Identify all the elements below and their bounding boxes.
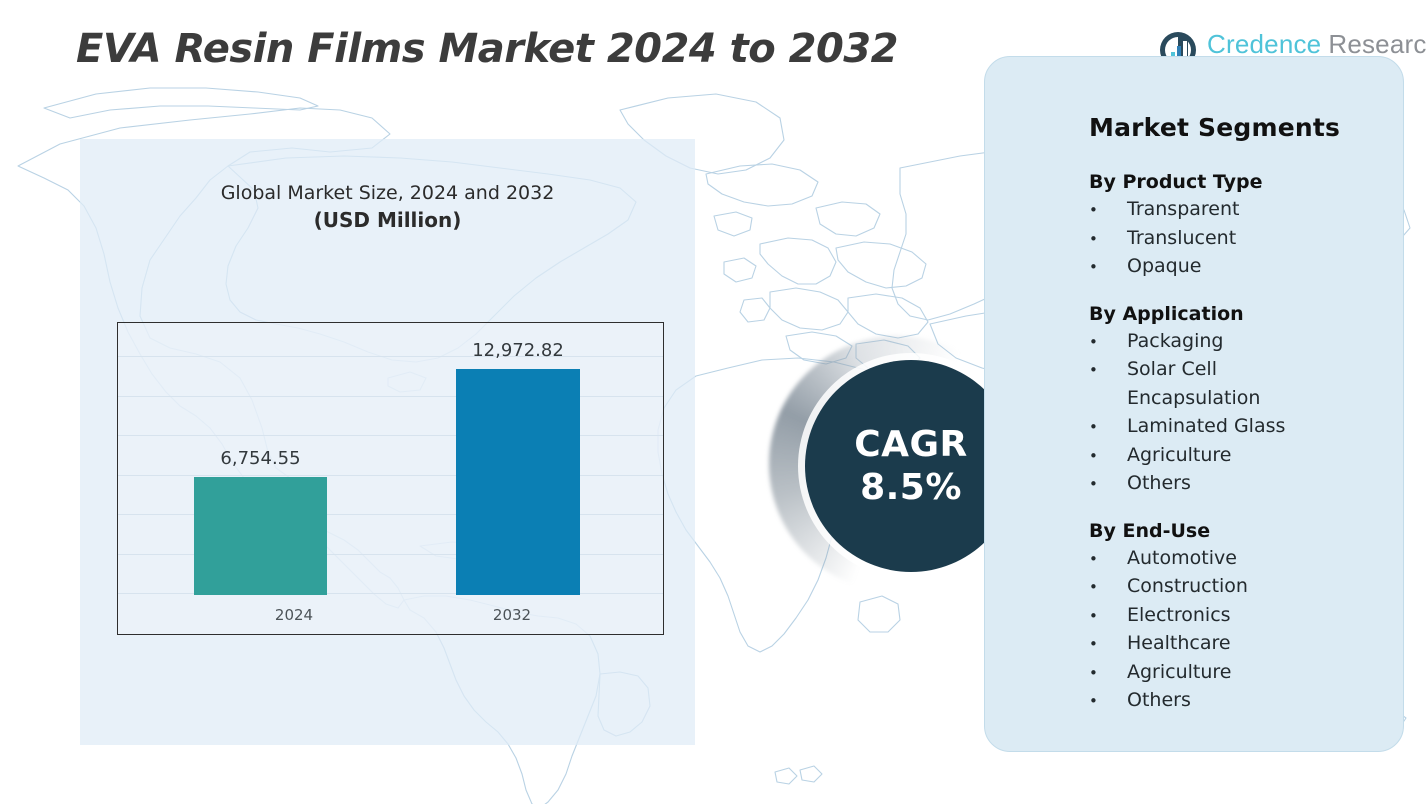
infographic-canvas: EVA Resin Films Market 2024 to 2032 Cred… xyxy=(0,0,1428,804)
segment-item-label: Laminated Glass xyxy=(1127,412,1403,441)
segment-list-item[interactable]: •Agriculture xyxy=(1089,658,1403,687)
segment-item-label: Others xyxy=(1127,686,1403,715)
bullet-icon: • xyxy=(1089,199,1127,222)
segment-group-title: By Application xyxy=(1089,303,1403,325)
segment-list-item[interactable]: •Construction xyxy=(1089,572,1403,601)
bar-2032 xyxy=(456,369,580,595)
bar-2024 xyxy=(194,477,327,595)
segment-item-label: Agriculture xyxy=(1127,658,1403,687)
bullet-icon: • xyxy=(1089,228,1127,251)
bullet-icon: • xyxy=(1089,359,1127,382)
page-title: EVA Resin Films Market 2024 to 2032 xyxy=(76,26,898,72)
bar-group-2032: 12,972.82 xyxy=(456,323,580,595)
segment-list-item[interactable]: •Translucent xyxy=(1089,224,1403,253)
segment-item-label: Transparent xyxy=(1127,195,1403,224)
segment-group-1: By Application•Packaging•Solar Cell Enca… xyxy=(1089,303,1403,498)
bullet-icon: • xyxy=(1089,473,1127,496)
segment-group-title: By End-Use xyxy=(1089,520,1403,542)
segment-item-label: Others xyxy=(1127,469,1403,498)
bar-group-2024: 6,754.55 xyxy=(194,323,327,595)
segment-list-item[interactable]: •Solar Cell Encapsulation xyxy=(1089,355,1403,412)
segment-group-title: By Product Type xyxy=(1089,171,1403,193)
brand-name-secondary: Research xyxy=(1328,31,1428,57)
segment-group-2: By End-Use•Automotive•Construction•Elect… xyxy=(1089,520,1403,715)
segment-list-item[interactable]: •Healthcare xyxy=(1089,629,1403,658)
bar-value-label-2024: 6,754.55 xyxy=(220,448,300,469)
segment-list-item[interactable]: •Automotive xyxy=(1089,544,1403,573)
segments-heading: Market Segments xyxy=(1089,113,1403,142)
bullet-icon: • xyxy=(1089,690,1127,713)
bullet-icon: • xyxy=(1089,331,1127,354)
segment-list-item[interactable]: •Agriculture xyxy=(1089,441,1403,470)
x-axis-label-2032: 2032 xyxy=(412,606,612,624)
segment-item-label: Opaque xyxy=(1127,252,1403,281)
bullet-icon: • xyxy=(1089,633,1127,656)
bullet-icon: • xyxy=(1089,576,1127,599)
segment-list-item[interactable]: •Laminated Glass xyxy=(1089,412,1403,441)
segment-item-label: Electronics xyxy=(1127,601,1403,630)
chart-title-line1: Global Market Size, 2024 and 2032 xyxy=(80,182,695,204)
bullet-icon: • xyxy=(1089,662,1127,685)
segments-groups: By Product Type•Transparent•Translucent•… xyxy=(1089,171,1403,715)
bullet-icon: • xyxy=(1089,605,1127,628)
market-segments-panel: Market Segments By Product Type•Transpar… xyxy=(984,56,1404,752)
bullet-icon: • xyxy=(1089,445,1127,468)
bullet-icon: • xyxy=(1089,548,1127,571)
bar-value-label-2032: 12,972.82 xyxy=(472,340,564,361)
segment-list-item[interactable]: •Others xyxy=(1089,469,1403,498)
segment-list-item[interactable]: •Others xyxy=(1089,686,1403,715)
segment-item-label: Translucent xyxy=(1127,224,1403,253)
segment-item-label: Automotive xyxy=(1127,544,1403,573)
segment-item-label: Agriculture xyxy=(1127,441,1403,470)
brand-name-primary: Credence xyxy=(1207,31,1321,57)
x-axis-label-2024: 2024 xyxy=(194,606,394,624)
cagr-value: 8.5% xyxy=(860,467,962,508)
chart-title-line2: (USD Million) xyxy=(80,208,695,232)
bullet-icon: • xyxy=(1089,256,1127,279)
segment-list-item[interactable]: •Electronics xyxy=(1089,601,1403,630)
segment-list-item[interactable]: •Transparent xyxy=(1089,195,1403,224)
cagr-label: CAGR xyxy=(854,424,968,465)
segment-item-label: Healthcare xyxy=(1127,629,1403,658)
segment-item-label: Solar Cell Encapsulation xyxy=(1127,355,1327,412)
segment-list-item[interactable]: •Opaque xyxy=(1089,252,1403,281)
segment-group-0: By Product Type•Transparent•Translucent•… xyxy=(1089,171,1403,281)
chart-plot-area: 6,754.5512,972.82 xyxy=(118,323,664,595)
bar-chart: 6,754.5512,972.82 2024 2032 xyxy=(117,322,664,635)
segment-item-label: Construction xyxy=(1127,572,1403,601)
segment-list-item[interactable]: •Packaging xyxy=(1089,327,1403,356)
bullet-icon: • xyxy=(1089,416,1127,439)
segment-item-label: Packaging xyxy=(1127,327,1403,356)
chart-title: Global Market Size, 2024 and 2032 (USD M… xyxy=(80,182,695,232)
